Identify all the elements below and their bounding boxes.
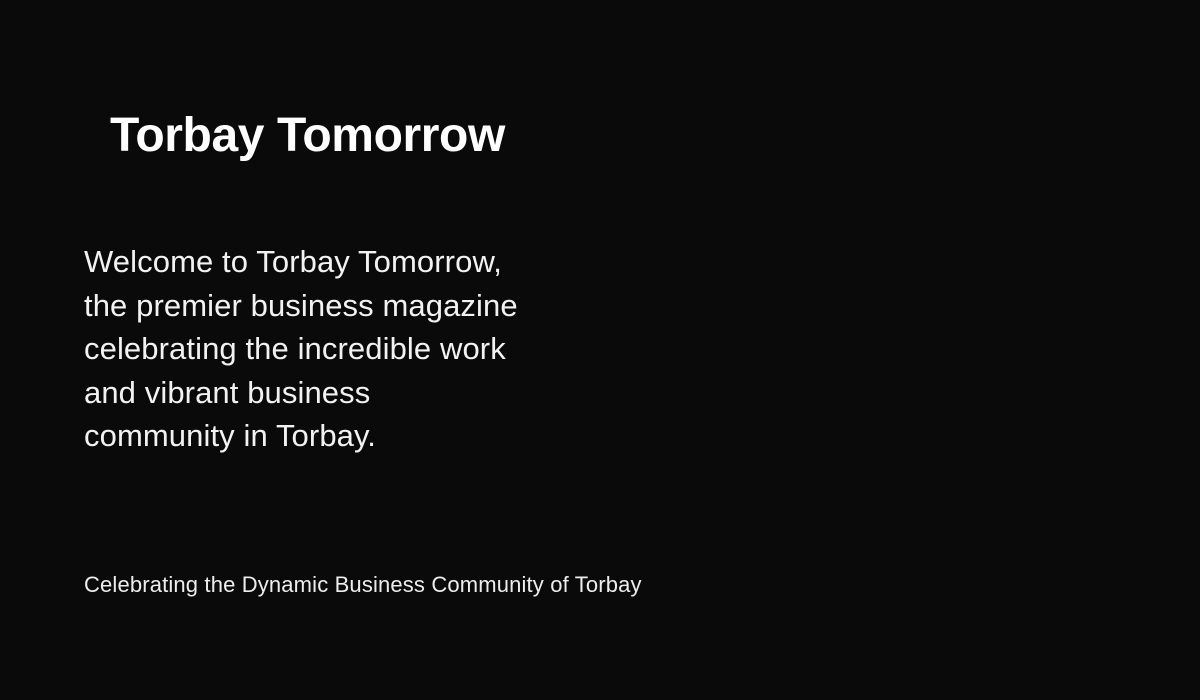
intro-line: celebrating the incredible work: [84, 327, 518, 371]
tagline: Celebrating the Dynamic Business Communi…: [84, 571, 642, 600]
intro-line: and vibrant business: [84, 371, 518, 415]
intro-line: Welcome to Torbay Tomorrow,: [84, 240, 518, 284]
intro-line: community in Torbay.: [84, 414, 518, 458]
tagline-block: Celebrating the Dynamic Business Communi…: [84, 571, 642, 600]
slide-canvas: Torbay Tomorrow Welcome to Torbay Tomorr…: [0, 0, 1200, 700]
page-title: Torbay Tomorrow: [110, 108, 505, 165]
title-block: Torbay Tomorrow: [110, 108, 505, 165]
intro-paragraph: Welcome to Torbay Tomorrow, the premier …: [84, 240, 518, 458]
intro-line: the premier business magazine: [84, 284, 518, 328]
